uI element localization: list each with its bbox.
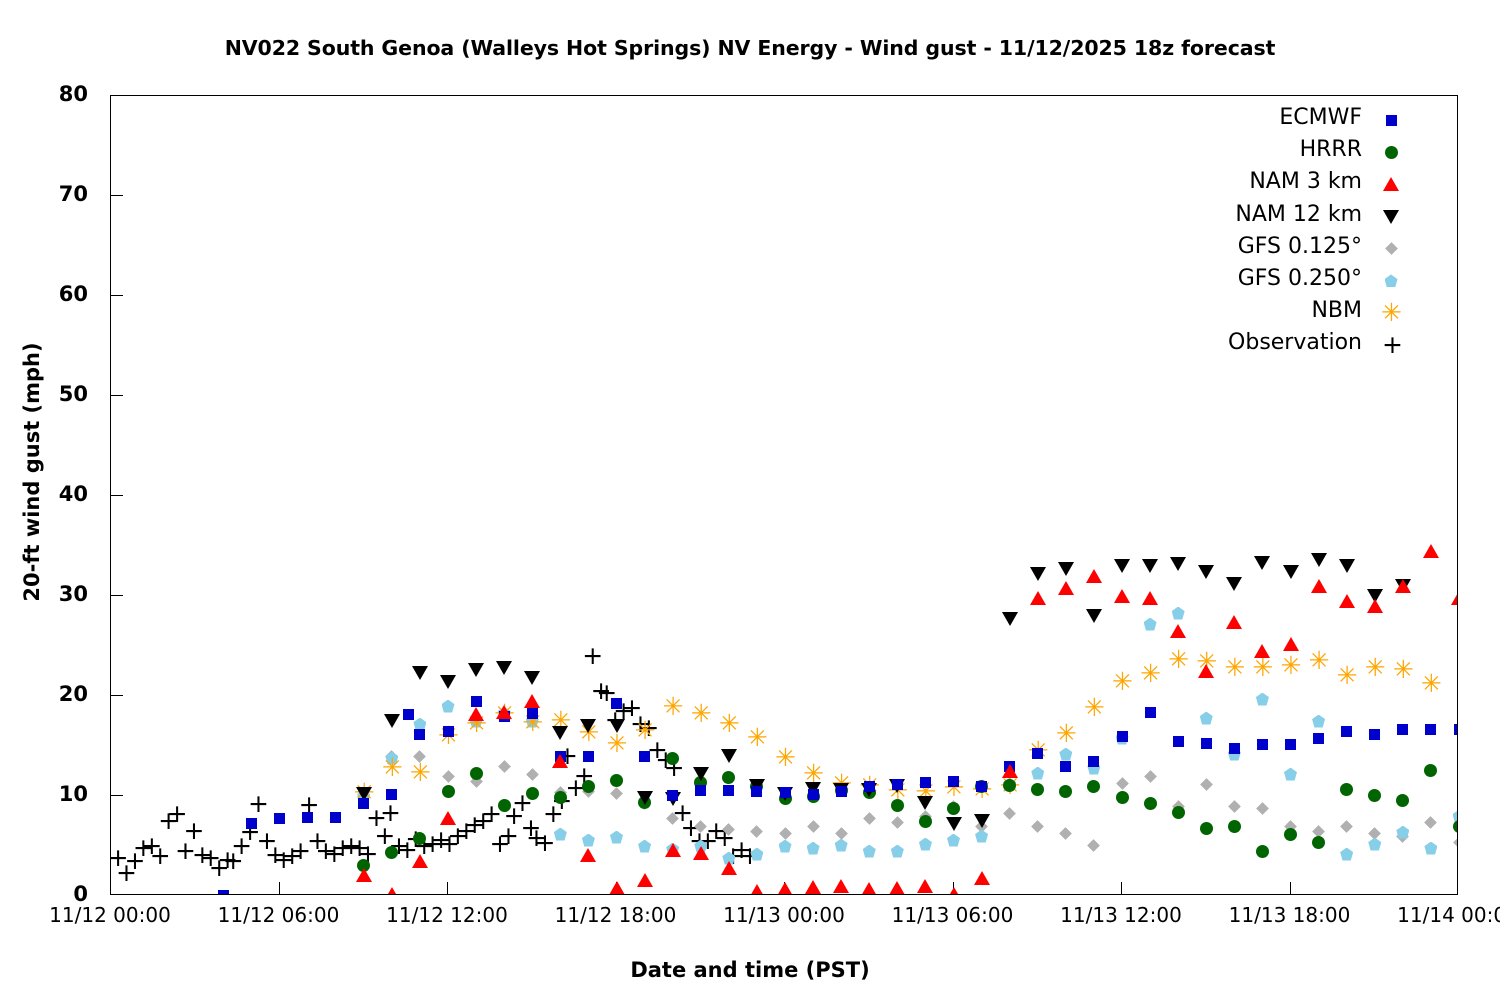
data-point-triangle-up — [974, 871, 990, 885]
data-point-triangle-up — [496, 705, 512, 719]
data-point-square — [976, 781, 987, 792]
data-point-star: ✳ — [1309, 651, 1329, 671]
y-tick-label: 10 — [8, 782, 88, 806]
data-point-triangle-down — [1086, 609, 1102, 623]
data-point-square — [695, 785, 706, 796]
data-point-square — [1425, 724, 1436, 735]
data-point-circle — [1059, 785, 1072, 798]
data-point-triangle-down — [721, 749, 737, 763]
data-point-square — [1257, 739, 1268, 750]
data-point-pentagon — [947, 834, 960, 847]
data-point-pentagon — [1172, 607, 1185, 620]
data-point-triangle-up — [833, 879, 849, 893]
data-point-star: ✳ — [747, 728, 767, 748]
data-point-triangle-up — [1170, 624, 1186, 638]
data-point-circle — [470, 767, 483, 780]
data-point-triangle-down — [946, 817, 962, 831]
data-point-pentagon — [1059, 748, 1072, 761]
y-tick-label: 50 — [8, 382, 88, 406]
data-point-triangle-down — [1339, 559, 1355, 573]
data-point-circle — [722, 771, 735, 784]
data-point-triangle-down — [1170, 557, 1186, 571]
data-point-circle — [1340, 783, 1353, 796]
data-point-square — [302, 812, 313, 823]
legend-label: NAM 3 km — [1249, 169, 1362, 194]
data-point-triangle-up — [1030, 591, 1046, 605]
x-axis-title: Date and time (PST) — [0, 958, 1500, 982]
data-point-triangle-up — [1198, 664, 1214, 678]
data-point-circle — [1003, 779, 1016, 792]
data-point-triangle-up — [1226, 615, 1242, 629]
x-tick-label: 11/13 00:00 — [723, 903, 845, 927]
data-point-star: ✳ — [1056, 724, 1076, 744]
data-point-square — [1060, 761, 1071, 772]
data-point-circle — [666, 752, 679, 765]
chart-page: NV022 South Genoa (Walleys Hot Springs) … — [0, 0, 1500, 1000]
data-point-square — [1285, 739, 1296, 750]
data-point-diamond — [1368, 827, 1381, 840]
data-point-pentagon — [919, 838, 932, 851]
data-point-triangle-up — [721, 861, 737, 875]
data-point-triangle-up — [1002, 764, 1018, 778]
data-point-plus: + — [380, 804, 398, 822]
data-point-diamond — [1340, 820, 1353, 833]
data-point-pentagon — [1200, 712, 1213, 725]
data-point-square — [274, 813, 285, 824]
data-point-square — [583, 751, 594, 762]
x-tick-label: 11/13 06:00 — [892, 903, 1014, 927]
data-point-triangle-down — [496, 661, 512, 675]
data-point-star: ✳ — [1421, 674, 1441, 694]
data-point-triangle-up — [580, 848, 596, 862]
data-point-triangle-down — [1142, 559, 1158, 573]
data-point-triangle-down — [1198, 565, 1214, 579]
data-point-triangle-down — [1030, 567, 1046, 581]
data-point-circle — [1453, 820, 1459, 833]
data-point-square — [358, 798, 369, 809]
data-point-diamond — [891, 816, 904, 829]
legend-item-hrrr[interactable]: HRRR — [1150, 137, 1410, 169]
data-point-pentagon — [582, 834, 595, 847]
data-point-square — [1145, 707, 1156, 718]
data-point-triangle-down — [609, 719, 625, 733]
data-point-diamond — [442, 770, 455, 783]
data-point-triangle-up — [1451, 591, 1458, 605]
data-point-triangle-down — [384, 714, 400, 728]
data-point-square — [667, 790, 678, 801]
data-point-triangle-up — [1142, 591, 1158, 605]
data-point-square — [639, 751, 650, 762]
data-point-circle — [526, 787, 539, 800]
data-point-diamond — [498, 760, 511, 773]
data-point-diamond — [1228, 800, 1241, 813]
data-point-square — [864, 781, 875, 792]
data-point-star: ✳ — [410, 763, 430, 783]
data-point-square — [808, 789, 819, 800]
x-tick-label: 11/12 18:00 — [555, 903, 677, 927]
legend-label: NBM — [1311, 298, 1362, 323]
data-point-diamond — [1144, 770, 1157, 783]
data-point-circle — [1172, 806, 1185, 819]
data-point-diamond — [863, 812, 876, 825]
data-point-triangle-up — [1395, 579, 1411, 593]
data-point-square — [1173, 736, 1184, 747]
data-point-triangle-down — [412, 666, 428, 680]
data-point-pentagon — [1312, 715, 1325, 728]
data-point-square — [1313, 733, 1324, 744]
legend-label: GFS 0.125° — [1238, 234, 1362, 259]
legend-label: Observation — [1228, 330, 1362, 355]
data-point-triangle-down — [693, 767, 709, 781]
x-tick-label: 11/13 18:00 — [1229, 903, 1351, 927]
data-point-star: ✳ — [635, 721, 655, 741]
data-point-plus: + — [167, 805, 185, 823]
legend-label: NAM 12 km — [1235, 202, 1362, 227]
data-point-triangle-up — [356, 868, 372, 882]
data-point-square — [1397, 724, 1408, 735]
data-point-pentagon — [638, 840, 651, 853]
legend-item-nam-3-km[interactable]: NAM 3 km — [1150, 169, 1410, 201]
legend-marker-circle-icon — [1378, 139, 1410, 165]
data-point-pentagon — [1368, 838, 1381, 851]
data-point-triangle-down — [468, 663, 484, 677]
data-point-pentagon — [1284, 768, 1297, 781]
legend-marker-pentagon-icon — [1378, 268, 1410, 294]
data-point-triangle-up — [946, 887, 962, 895]
data-point-triangle-down — [580, 719, 596, 733]
data-point-diamond — [1003, 807, 1016, 820]
data-point-triangle-up — [749, 884, 765, 895]
data-point-circle — [554, 791, 567, 804]
data-point-star: ✳ — [803, 764, 823, 784]
data-point-triangle-up — [1367, 599, 1383, 613]
y-tick-label: 80 — [8, 82, 88, 106]
data-point-triangle-up — [609, 881, 625, 895]
data-point-circle — [891, 799, 904, 812]
data-point-plus: + — [481, 805, 499, 823]
data-point-star: ✳ — [663, 697, 683, 717]
data-point-triangle-up — [693, 846, 709, 860]
legend-marker-star-icon: ✳ — [1378, 300, 1410, 326]
data-point-diamond — [610, 787, 623, 800]
data-point-star: ✳ — [691, 704, 711, 724]
y-tick-label: 70 — [8, 182, 88, 206]
data-point-triangle-down — [1226, 577, 1242, 591]
data-point-star: ✳ — [719, 714, 739, 734]
data-point-square — [836, 786, 847, 797]
data-point-triangle-down — [1254, 556, 1270, 570]
data-point-pentagon — [610, 831, 623, 844]
data-point-square — [1032, 748, 1043, 759]
data-point-square — [471, 696, 482, 707]
data-point-pentagon — [1424, 842, 1437, 855]
data-point-diamond — [526, 768, 539, 781]
data-point-pentagon — [1144, 618, 1157, 631]
data-point-diamond — [751, 825, 764, 838]
data-point-square — [330, 812, 341, 823]
data-point-triangle-up — [861, 882, 877, 895]
data-point-circle — [1200, 822, 1213, 835]
data-point-square — [414, 729, 425, 740]
data-point-pentagon — [1396, 826, 1409, 839]
x-tick-label: 11/12 00:00 — [49, 903, 171, 927]
data-point-triangle-up — [1423, 544, 1439, 558]
legend-marker-triangle-up-icon — [1378, 171, 1410, 197]
data-point-circle — [947, 802, 960, 815]
legend-marker-plus-icon: + — [1378, 332, 1410, 358]
data-point-triangle-down — [637, 791, 653, 805]
data-point-square — [780, 787, 791, 798]
data-point-square — [1088, 756, 1099, 767]
legend-item-observation[interactable]: Observation+ — [1150, 330, 1410, 362]
legend-marker-triangle-down-icon — [1378, 204, 1410, 230]
data-point-diamond — [1256, 802, 1269, 815]
data-point-triangle-down — [1114, 559, 1130, 573]
legend-label: GFS 0.250° — [1238, 266, 1362, 291]
data-point-square — [920, 777, 931, 788]
data-point-plus: + — [534, 834, 552, 852]
chart-legend: ECMWFHRRRNAM 3 kmNAM 12 kmGFS 0.125°GFS … — [1150, 105, 1410, 363]
data-point-triangle-up — [384, 887, 400, 895]
data-point-triangle-up — [777, 882, 793, 895]
data-point-diamond — [1116, 777, 1129, 790]
data-point-square — [403, 709, 414, 720]
data-point-circle — [582, 780, 595, 793]
data-point-triangle-down — [974, 814, 990, 828]
data-point-star: ✳ — [1252, 658, 1272, 678]
x-tick-label: 11/12 06:00 — [218, 903, 340, 927]
data-point-triangle-up — [805, 880, 821, 894]
data-point-star: ✳ — [1112, 672, 1132, 692]
data-point-square — [751, 786, 762, 797]
data-point-star: ✳ — [1084, 698, 1104, 718]
data-point-circle — [1368, 789, 1381, 802]
data-point-triangle-up — [1283, 637, 1299, 651]
data-point-star: ✳ — [1140, 664, 1160, 684]
data-point-circle — [498, 799, 511, 812]
data-point-square — [611, 698, 622, 709]
data-point-pentagon — [554, 828, 567, 841]
data-point-square — [1117, 731, 1128, 742]
data-point-triangle-down — [1002, 612, 1018, 626]
legend-item-gfs-0-250[interactable]: GFS 0.250° — [1150, 266, 1410, 298]
y-tick-label: 40 — [8, 482, 88, 506]
data-point-circle — [1256, 845, 1269, 858]
data-point-circle — [610, 774, 623, 787]
data-point-star: ✳ — [1224, 658, 1244, 678]
legend-marker-diamond-icon — [1378, 236, 1410, 262]
data-point-square — [892, 779, 903, 790]
data-point-diamond — [807, 820, 820, 833]
data-point-triangle-down — [1283, 565, 1299, 579]
data-point-pentagon — [779, 840, 792, 853]
data-point-plus: + — [582, 647, 600, 665]
data-point-square — [527, 708, 538, 719]
data-point-square — [1201, 738, 1212, 749]
data-point-circle — [919, 815, 932, 828]
data-point-circle — [1031, 783, 1044, 796]
data-point-circle — [385, 846, 398, 859]
data-point-square — [948, 776, 959, 787]
y-tick-label: 30 — [8, 582, 88, 606]
data-point-circle — [1116, 791, 1129, 804]
y-tick-label: 20 — [8, 682, 88, 706]
data-point-triangle-up — [665, 843, 681, 857]
data-point-square — [386, 789, 397, 800]
data-point-circle — [1396, 794, 1409, 807]
data-point-star: ✳ — [1337, 666, 1357, 686]
y-axis-title: 20-ft wind gust (mph) — [20, 242, 44, 702]
data-point-triangle-up — [1058, 581, 1074, 595]
data-point-square — [1229, 743, 1240, 754]
legend-item-nam-12-km[interactable]: NAM 12 km — [1150, 202, 1410, 234]
data-point-triangle-up — [637, 873, 653, 887]
data-point-triangle-up — [468, 707, 484, 721]
data-point-square — [246, 818, 257, 829]
data-point-triangle-down — [1311, 553, 1327, 567]
data-point-pentagon — [891, 845, 904, 858]
data-point-star: ✳ — [382, 758, 402, 778]
data-point-triangle-up — [1086, 569, 1102, 583]
data-point-star: ✳ — [1393, 660, 1413, 680]
legend-item-nbm[interactable]: NBM✳ — [1150, 298, 1410, 330]
data-point-plus: + — [290, 842, 308, 860]
data-point-diamond — [1453, 836, 1458, 849]
x-tick-label: 11/14 00:00 — [1397, 903, 1500, 927]
data-point-triangle-up — [1339, 594, 1355, 608]
data-point-triangle-up — [552, 754, 568, 768]
data-point-triangle-down — [1058, 562, 1074, 576]
data-point-triangle-up — [412, 854, 428, 868]
data-point-pentagon — [442, 700, 455, 713]
data-point-square — [1369, 729, 1380, 740]
data-point-star: ✳ — [1281, 656, 1301, 676]
legend-label: ECMWF — [1279, 105, 1362, 130]
data-point-pentagon — [1031, 767, 1044, 780]
data-point-triangle-up — [1311, 579, 1327, 593]
data-point-square — [218, 890, 229, 896]
data-point-pentagon — [1256, 693, 1269, 706]
data-point-triangle-up — [889, 881, 905, 895]
data-point-diamond — [835, 827, 848, 840]
data-point-plus: + — [150, 847, 168, 865]
data-point-pentagon — [1340, 848, 1353, 861]
data-point-diamond — [779, 827, 792, 840]
data-point-circle — [1087, 780, 1100, 793]
data-point-circle — [1424, 764, 1437, 777]
legend-item-gfs-0-125[interactable]: GFS 0.125° — [1150, 234, 1410, 266]
data-point-diamond — [1200, 778, 1213, 791]
data-point-square — [1454, 724, 1459, 735]
data-point-diamond — [1425, 816, 1438, 829]
data-point-circle — [413, 832, 426, 845]
data-point-circle — [1312, 836, 1325, 849]
chart-title: NV022 South Genoa (Walleys Hot Springs) … — [0, 36, 1500, 60]
data-point-triangle-up — [440, 811, 456, 825]
data-point-pentagon — [975, 830, 988, 843]
data-point-circle — [442, 785, 455, 798]
data-point-square — [1341, 726, 1352, 737]
data-point-triangle-down — [440, 675, 456, 689]
x-tick-label: 11/12 12:00 — [386, 903, 508, 927]
data-point-square — [443, 726, 454, 737]
legend-label: HRRR — [1300, 137, 1362, 162]
data-point-pentagon — [807, 842, 820, 855]
data-point-circle — [1144, 797, 1157, 810]
data-point-star: ✳ — [775, 748, 795, 768]
legend-marker-square-icon — [1378, 107, 1410, 133]
data-point-circle — [1284, 828, 1297, 841]
data-point-star: ✳ — [1365, 658, 1385, 678]
legend-item-ecmwf[interactable]: ECMWF — [1150, 105, 1410, 137]
data-point-diamond — [1031, 820, 1044, 833]
data-point-star: ✳ — [607, 734, 627, 754]
data-point-diamond — [1059, 827, 1072, 840]
data-point-triangle-down — [524, 671, 540, 685]
data-point-diamond — [1088, 839, 1101, 852]
data-point-square — [723, 785, 734, 796]
data-point-triangle-down — [552, 726, 568, 740]
data-point-star: ✳ — [1168, 650, 1188, 670]
data-point-triangle-up — [1114, 589, 1130, 603]
data-point-pentagon — [863, 845, 876, 858]
data-point-plus: + — [183, 822, 201, 840]
data-point-triangle-down — [917, 796, 933, 810]
x-tick-label: 11/13 12:00 — [1060, 903, 1182, 927]
data-point-triangle-up — [917, 879, 933, 893]
data-point-plus: + — [248, 795, 266, 813]
data-point-triangle-up — [524, 694, 540, 708]
data-point-circle — [1228, 820, 1241, 833]
y-tick-label: 60 — [8, 282, 88, 306]
data-point-pentagon — [835, 839, 848, 852]
data-point-triangle-up — [1254, 644, 1270, 658]
